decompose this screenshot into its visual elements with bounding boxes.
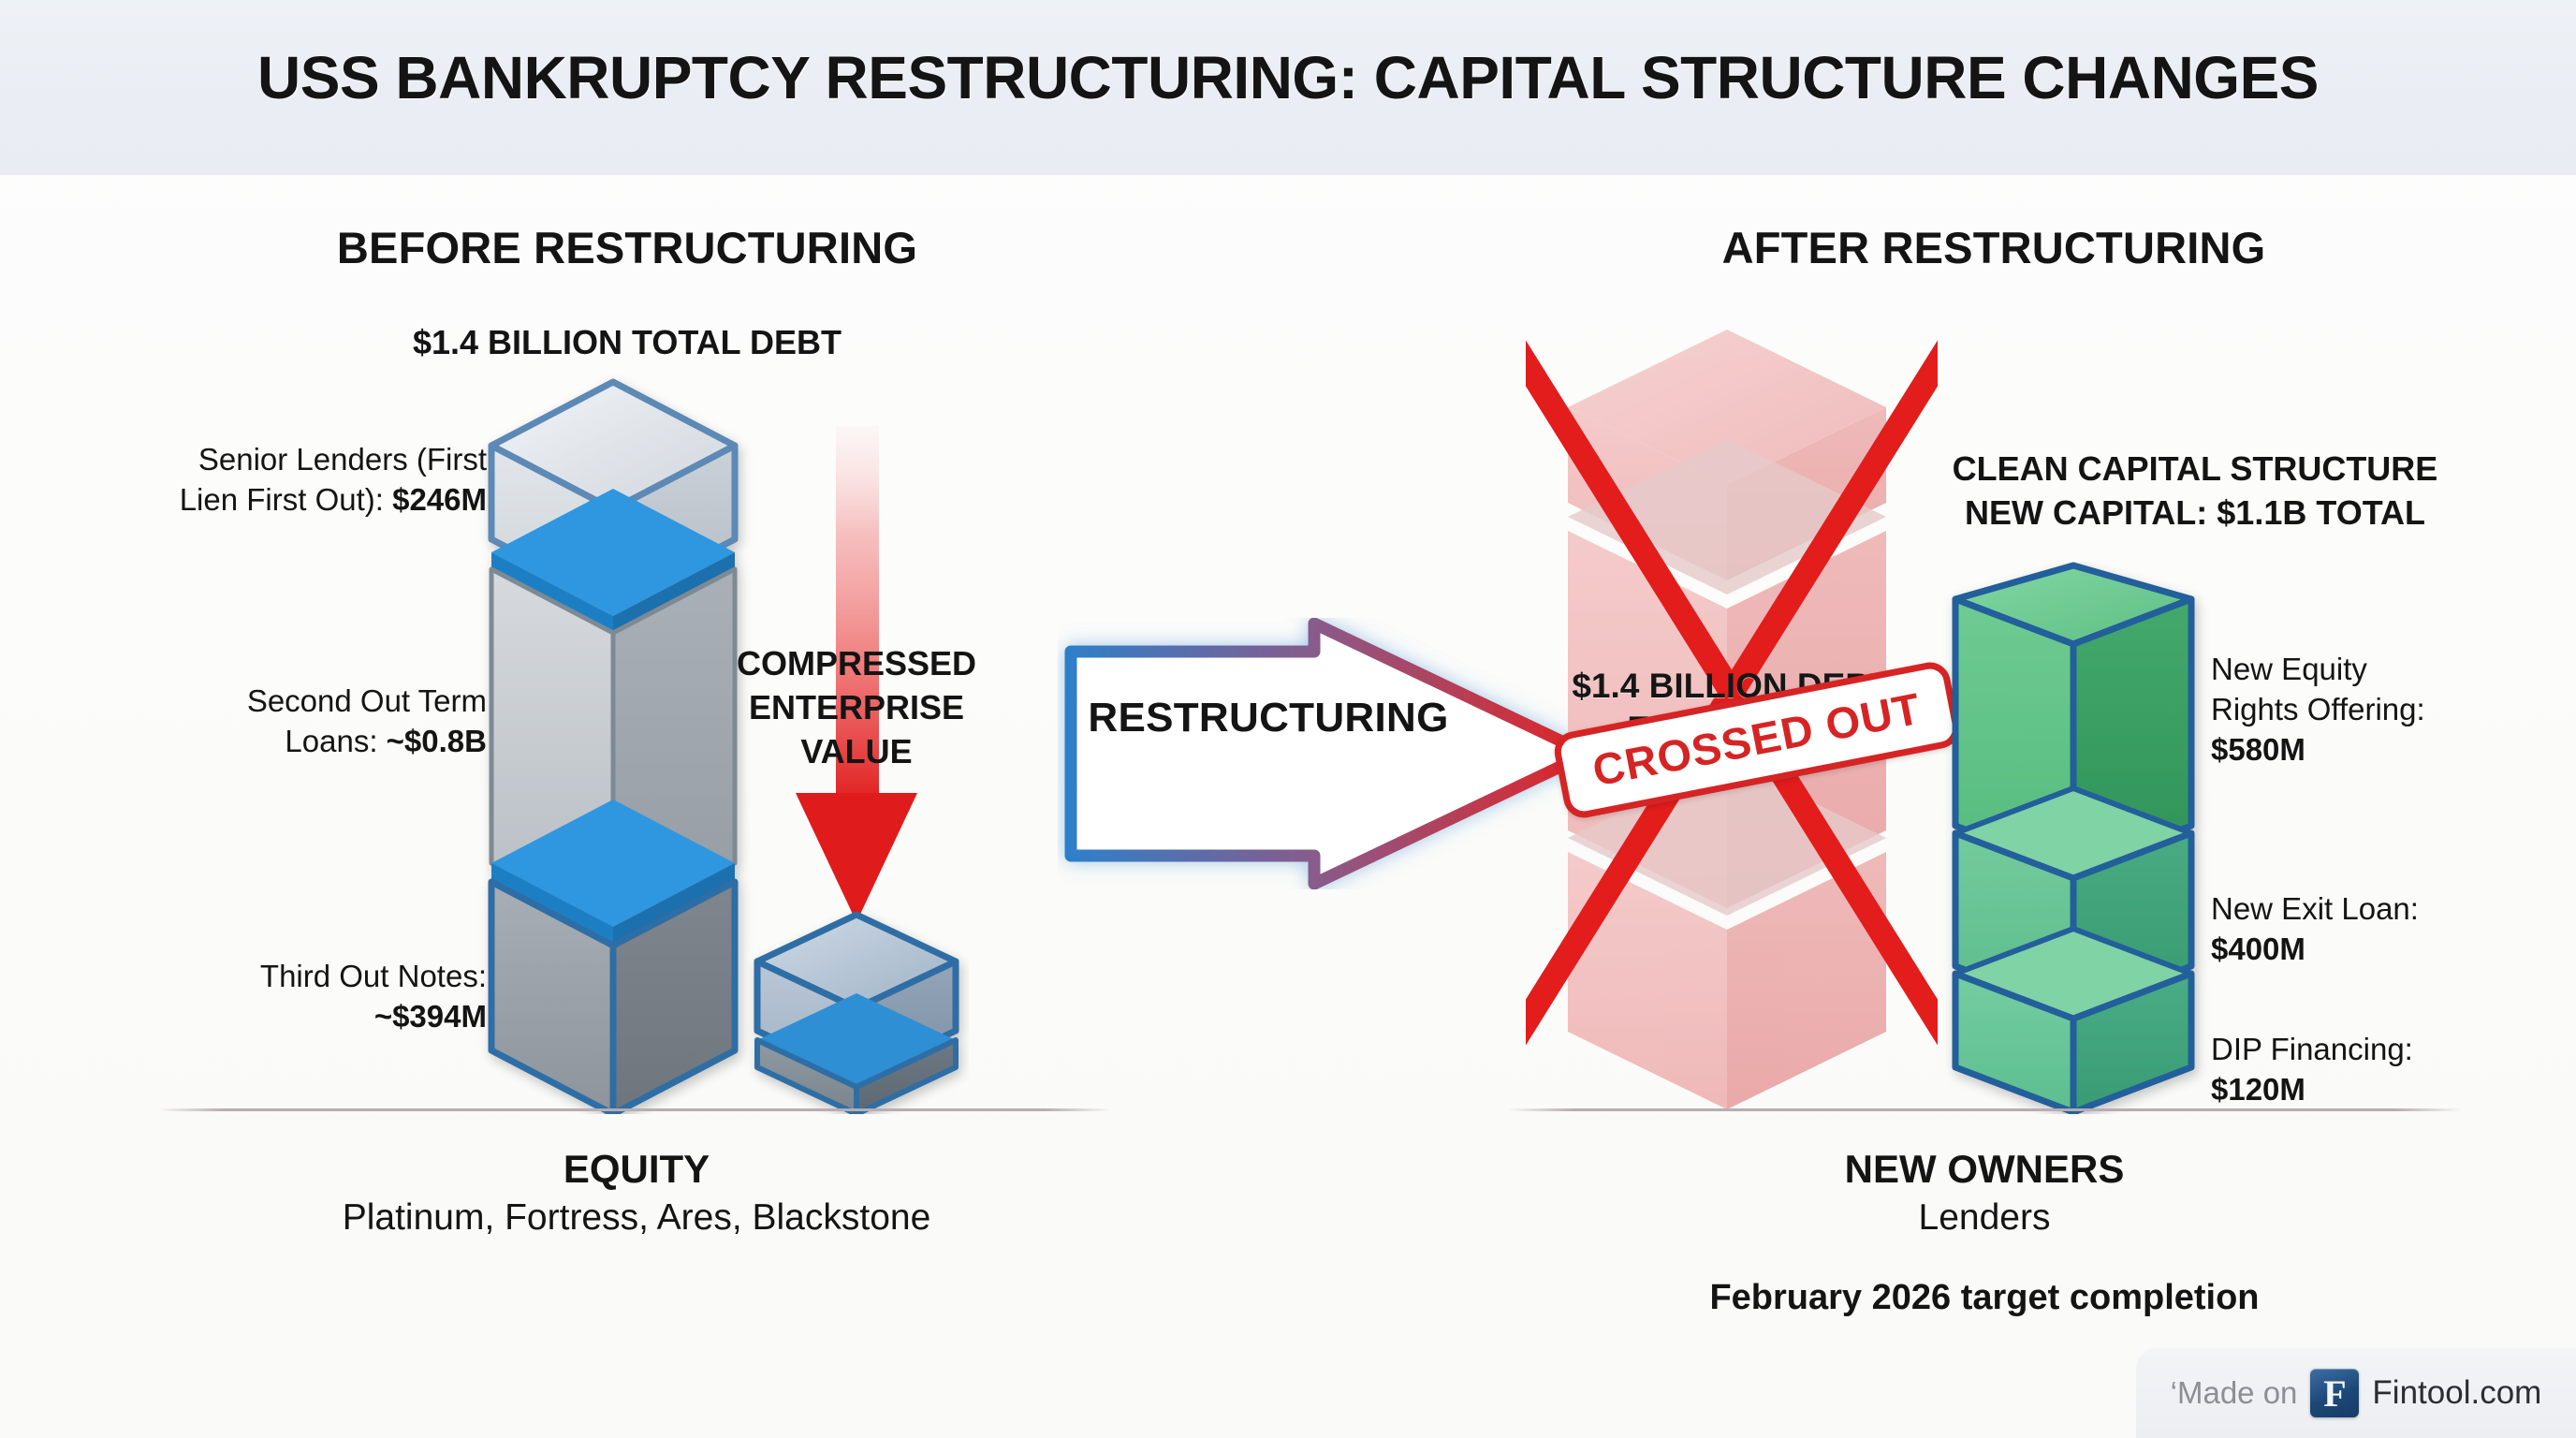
label-senior-lenders-line1: Senior Lenders (First — [198, 442, 487, 477]
label-dip-financing: DIP Financing: $120M — [2211, 1030, 2576, 1110]
value-second-out-term-loans: ~$0.8B — [387, 724, 487, 758]
label-new-equity-line2: Rights Offering: — [2211, 692, 2425, 726]
clean-capital-line2: NEW CAPITAL: $1.1B TOTAL — [1965, 493, 2425, 532]
compressed-line1: COMPRESSED — [737, 644, 976, 682]
before-section-heading: BEFORE RESTRUCTURING — [281, 222, 973, 273]
watermark-made-on-text: ‘Made on — [2171, 1375, 2298, 1411]
label-second-out-line1: Second Out Term — [247, 683, 487, 718]
compressed-enterprise-value-label: COMPRESSED ENTERPRISE VALUE — [711, 642, 1002, 773]
label-third-out-line1: Third Out Notes: — [260, 959, 487, 993]
label-new-equity-line1: New Equity — [2211, 652, 2367, 686]
label-second-out-term-loans: Second Out Term Loans: ~$0.8B — [140, 682, 487, 762]
compressed-value-stack — [744, 903, 969, 1114]
restructuring-arrow — [1058, 618, 1601, 889]
new-owners-caption-title: NEW OWNERS — [1535, 1144, 2434, 1196]
value-new-exit-loan: $400M — [2211, 932, 2305, 966]
clean-capital-line1: CLEAN CAPITAL STRUCTURE — [1953, 449, 2438, 488]
label-new-exit-loan: New Exit Loan: $400M — [2211, 889, 2576, 970]
fintool-logo-icon: F — [2310, 1369, 2359, 1417]
value-dip-financing: $120M — [2211, 1072, 2305, 1107]
restructuring-arrow-label: RESTRUCTURING — [1086, 695, 1451, 741]
label-second-out-line2: Loans: — [285, 724, 386, 758]
equity-caption-title: EQUITY — [187, 1144, 1086, 1196]
page-title: USS BANKRUPTCY RESTRUCTURING: CAPITAL ST… — [0, 43, 2576, 112]
compressed-line2: ENTERPRISE — [749, 688, 964, 726]
equity-caption-sub: Platinum, Fortress, Ares, Blackstone — [187, 1195, 1086, 1242]
target-completion-note: February 2026 target completion — [1535, 1275, 2434, 1321]
clean-capital-callout: CLEAN CAPITAL STRUCTURE NEW CAPITAL: $1.… — [1914, 448, 2476, 536]
after-section-heading: AFTER RESTRUCTURING — [1647, 222, 2340, 273]
value-third-out-notes: ~$394M — [374, 999, 487, 1034]
total-debt-label: $1.4 BILLION TOTAL DEBT — [281, 321, 973, 365]
after-baseline — [1507, 1108, 2462, 1111]
label-dip-financing-line1: DIP Financing: — [2211, 1032, 2413, 1066]
after-capital-stack — [1933, 562, 2214, 1114]
infographic-canvas: USS BANKRUPTCY RESTRUCTURING: CAPITAL ST… — [0, 0, 2576, 1438]
label-senior-lenders: Senior Lenders (First Lien First Out): $… — [122, 440, 487, 521]
fintool-watermark[interactable]: ‘Made on F Fintool.com — [2136, 1348, 2576, 1438]
label-senior-lenders-line2: Lien First Out): — [180, 482, 392, 517]
value-new-equity-rights-offering: $580M — [2211, 732, 2305, 767]
new-owners-caption-sub: Lenders — [1535, 1195, 2434, 1242]
label-new-equity-rights-offering: New Equity Rights Offering: $580M — [2211, 650, 2576, 770]
compressed-line3: VALUE — [800, 732, 912, 770]
value-senior-lenders: $246M — [392, 482, 487, 517]
label-third-out-notes: Third Out Notes: ~$394M — [140, 957, 487, 1037]
before-baseline — [157, 1108, 1112, 1111]
label-new-exit-loan-line1: New Exit Loan: — [2211, 891, 2419, 926]
watermark-site-name: Fintool.com — [2372, 1374, 2541, 1412]
